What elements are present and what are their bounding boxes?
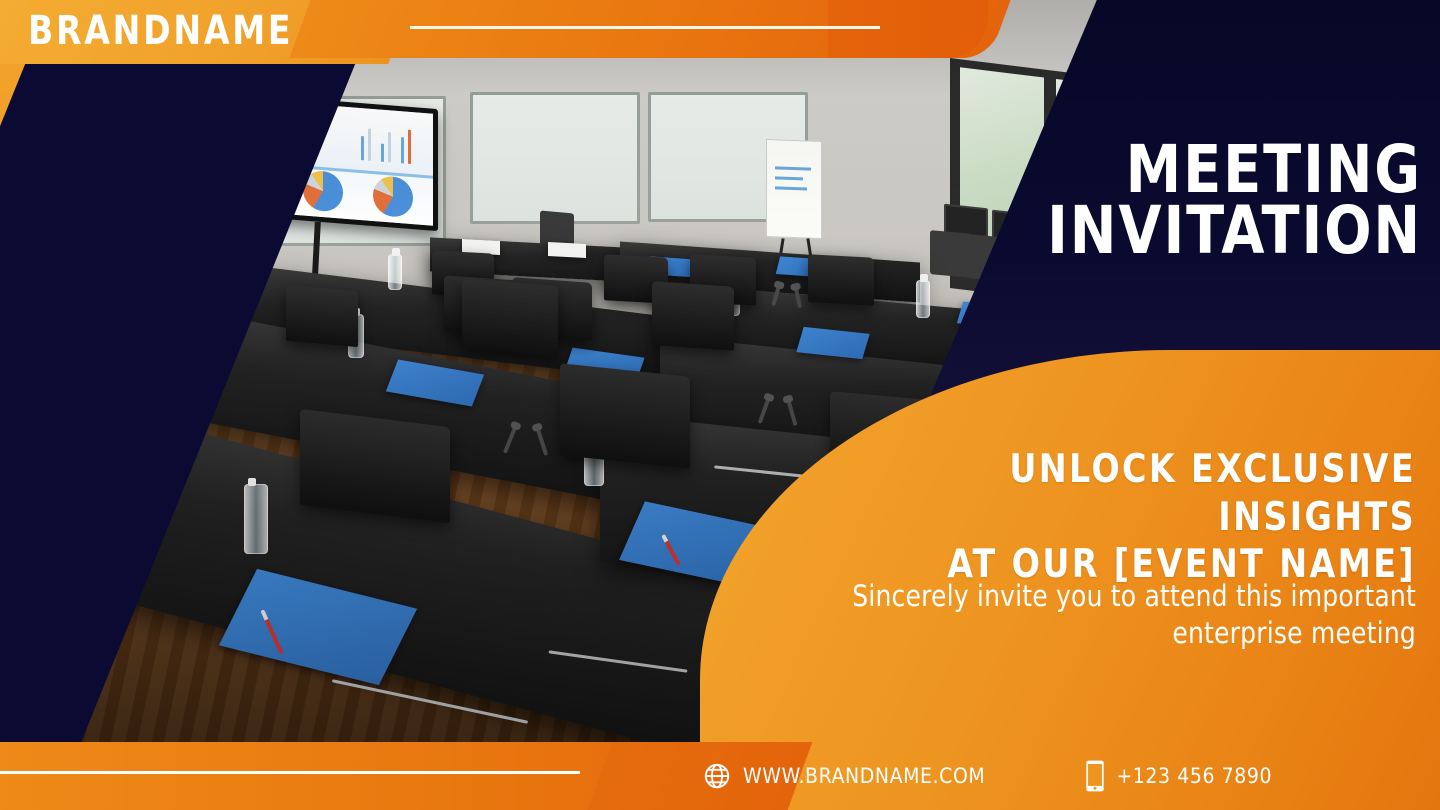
footer-contacts: WWW.BRANDNAME.COM +123 456 7890 — [680, 742, 1440, 810]
header-rule — [410, 26, 880, 29]
header-bar-cap — [828, 0, 988, 58]
mobile-phone-icon — [1085, 760, 1105, 792]
brand-logo-text: BRANDNAME — [28, 8, 414, 54]
website-text: WWW.BRANDNAME.COM — [743, 764, 985, 788]
footer-rule — [0, 771, 580, 774]
subhead-line-1: Sincerely invite you to attend this impo… — [821, 578, 1416, 615]
title-line-2: INVITATION — [1027, 201, 1422, 262]
poster-subheadline: Sincerely invite you to attend this impo… — [821, 578, 1416, 651]
phone-contact[interactable]: +123 456 7890 — [1085, 760, 1272, 792]
poster-headline: UNLOCK EXCLUSIVE INSIGHTS AT OUR [EVENT … — [846, 446, 1416, 589]
phone-text: +123 456 7890 — [1116, 764, 1272, 788]
headline-line-1: UNLOCK EXCLUSIVE INSIGHTS — [846, 446, 1416, 541]
globe-icon — [702, 761, 732, 791]
poster-title: MEETING INVITATION — [1002, 140, 1422, 261]
website-contact[interactable]: WWW.BRANDNAME.COM — [702, 761, 985, 791]
meeting-invitation-poster: BRANDNAME MEETING INVITATION UNLOCK EXCL… — [0, 0, 1440, 810]
subhead-line-2: enterprise meeting — [821, 615, 1416, 652]
